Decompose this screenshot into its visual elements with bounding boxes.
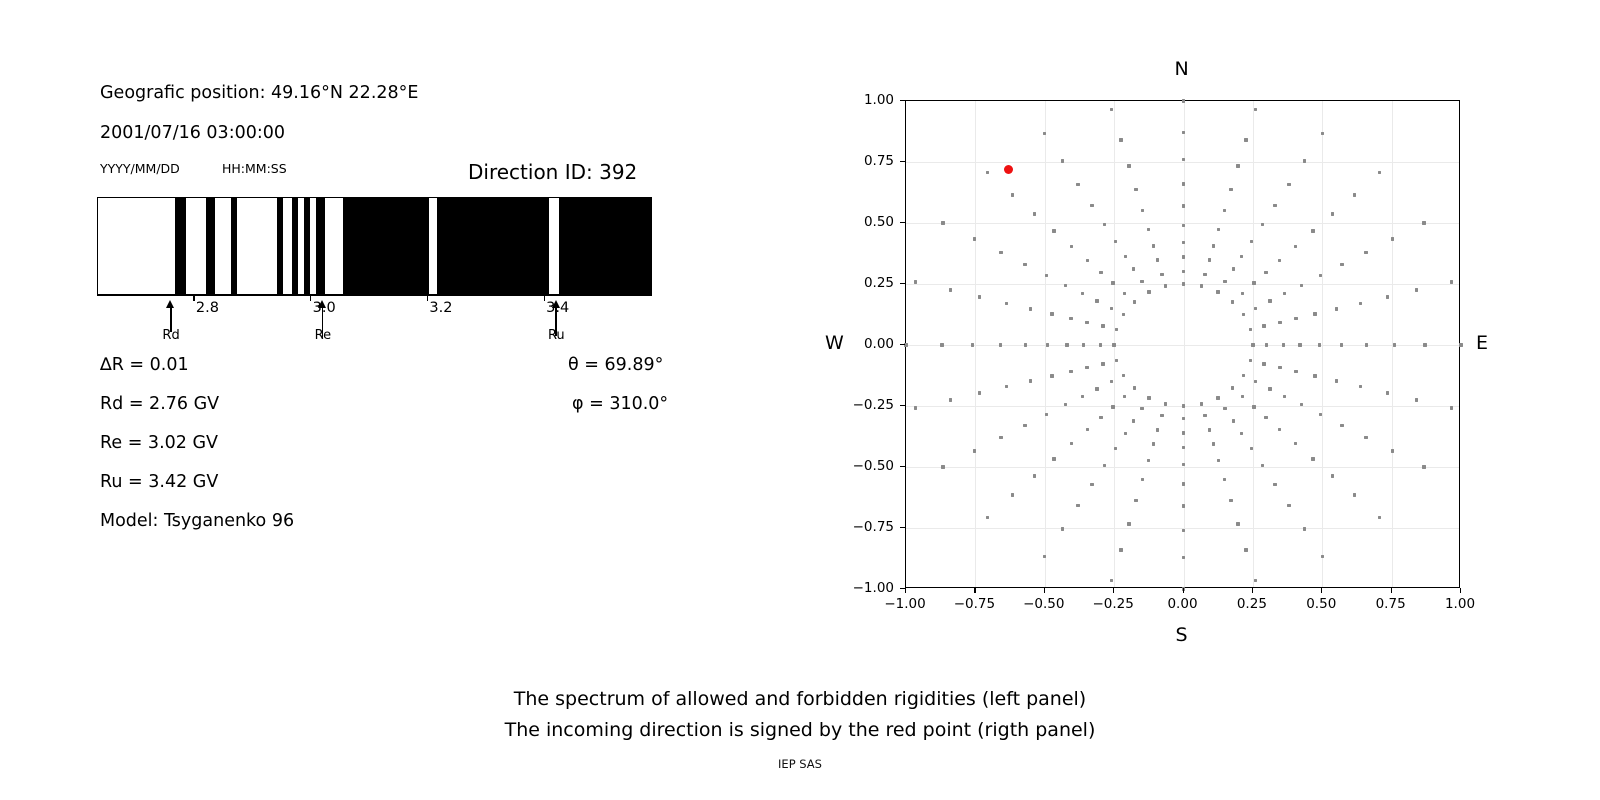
rigidity-spectrum-panel: Geografic position: 49.16°N 22.28°E 2001… [0, 0, 800, 800]
x-tick-mark [1252, 588, 1253, 593]
direction-point [1095, 299, 1098, 302]
grid-line-vertical [1184, 101, 1185, 587]
direction-point [999, 436, 1002, 439]
x-tick-mark [1321, 588, 1322, 593]
direction-point [1283, 395, 1286, 398]
direction-point [1236, 164, 1239, 167]
direction-point [1208, 428, 1211, 431]
direction-point [1223, 280, 1226, 283]
direction-point [1090, 483, 1093, 486]
param-theta: θ = 69.89° [568, 355, 663, 375]
direction-point [1101, 324, 1104, 327]
direction-point [1085, 366, 1088, 369]
y-tick-label: −0.50 [842, 458, 894, 474]
direction-point [1127, 522, 1130, 525]
y-tick-label: 0.25 [842, 275, 894, 291]
direction-point [1115, 328, 1118, 331]
direction-point [1134, 188, 1137, 191]
direction-point [986, 516, 989, 519]
marker-arrow-head-ru [552, 300, 560, 308]
direction-point [1450, 280, 1453, 283]
x-tick-mark [905, 588, 906, 593]
grid-line-horizontal [906, 162, 1459, 163]
y-tick-label: −0.25 [842, 397, 894, 413]
direction-point [1313, 374, 1316, 377]
direction-point [1099, 343, 1102, 346]
direction-point [1160, 273, 1163, 276]
direction-point [1182, 482, 1185, 485]
direction-point [1160, 414, 1163, 417]
direction-point [1103, 223, 1106, 226]
x-tick-label: 1.00 [1445, 596, 1475, 612]
direction-point [1278, 259, 1281, 262]
caption-line-1: The spectrum of allowed and forbidden ri… [0, 688, 1600, 710]
direction-point [1061, 527, 1064, 530]
direction-point [1095, 387, 1098, 390]
direction-point [1261, 223, 1264, 226]
direction-point [1081, 292, 1084, 295]
direction-point [949, 398, 952, 401]
direction-point [1261, 464, 1264, 467]
direction-point [1070, 442, 1073, 445]
footer-credit: IEP SAS [0, 757, 1600, 771]
direction-point [1110, 380, 1113, 383]
direction-point [1182, 99, 1185, 102]
forbidden-band [304, 198, 310, 294]
param-rd: Rd = 2.76 GV [100, 394, 219, 414]
compass-east-label: E [1476, 332, 1488, 354]
x-tick-mark [1183, 588, 1184, 593]
direction-point [1122, 313, 1125, 316]
caption-line-2: The incoming direction is signed by the … [0, 719, 1600, 741]
direction-point [1114, 447, 1117, 450]
direction-point [1110, 579, 1113, 582]
direction-point [1182, 204, 1185, 207]
forbidden-band [292, 198, 298, 294]
param-ru: Ru = 3.42 GV [100, 472, 218, 492]
date-format-hint: YYYY/MM/DD [100, 161, 180, 176]
marker-arrow-label-rd: Rd [162, 328, 179, 343]
direction-point [1450, 406, 1453, 409]
direction-point [1241, 395, 1244, 398]
direction-point [1250, 447, 1253, 450]
direction-point [1182, 241, 1185, 244]
direction-point [1147, 459, 1150, 462]
compass-south-label: S [1176, 624, 1188, 646]
direction-point [1110, 108, 1113, 111]
direction-point [1298, 343, 1301, 346]
incoming-direction-red-point [1004, 165, 1013, 174]
y-tick-mark [900, 161, 905, 162]
direction-point [1319, 274, 1322, 277]
direction-point [1249, 328, 1252, 331]
direction-point [1182, 556, 1185, 559]
direction-point [1393, 343, 1396, 346]
y-tick-label: 0.50 [842, 214, 894, 230]
direction-point [1254, 108, 1257, 111]
direction-point [1359, 302, 1362, 305]
direction-point [1223, 209, 1226, 212]
direction-point [1391, 237, 1394, 240]
direction-point [1082, 343, 1085, 346]
param-re: Re = 3.02 GV [100, 433, 218, 453]
direction-point [1123, 292, 1126, 295]
direction-point [1182, 463, 1185, 466]
x-tick-label: −0.25 [1092, 596, 1133, 612]
x-tick-mark [1460, 588, 1461, 593]
direction-point [1064, 284, 1067, 287]
direction-point [1212, 244, 1215, 247]
direction-point [1200, 284, 1203, 287]
direction-point [1111, 405, 1114, 408]
direction-point [1278, 366, 1281, 369]
time-format-hint: HH:MM:SS [222, 161, 287, 176]
direction-point [1124, 255, 1127, 258]
direction-point [1132, 419, 1135, 422]
x-tick-label: −0.50 [1023, 596, 1064, 612]
direction-point [941, 221, 944, 224]
direction-point [1111, 281, 1114, 284]
direction-point [1200, 402, 1203, 405]
direction-point [1321, 132, 1324, 135]
direction-scatter-plot [905, 100, 1460, 588]
datetime-text: 2001/07/16 03:00:00 [100, 123, 285, 143]
direction-point [1069, 370, 1072, 373]
direction-point [1249, 359, 1252, 362]
direction-point [1141, 209, 1144, 212]
direction-point [1090, 204, 1093, 207]
direction-point [1110, 307, 1113, 310]
direction-point [1415, 398, 1418, 401]
direction-point [1340, 343, 1343, 346]
direction-point [1182, 131, 1185, 134]
direction-point [1262, 324, 1265, 327]
y-tick-mark [900, 100, 905, 101]
geographic-position-text: Geografic position: 49.16°N 22.28°E [100, 83, 418, 103]
direction-point [1182, 224, 1185, 227]
direction-point [1319, 413, 1322, 416]
direction-point [1052, 229, 1055, 232]
direction-point [1024, 343, 1027, 346]
forbidden-band [343, 198, 429, 294]
direction-point [1311, 457, 1314, 460]
direction-point [1231, 300, 1234, 303]
x-tick-label: 0.00 [1167, 596, 1197, 612]
direction-point [1244, 548, 1247, 551]
x-tick-label: −0.75 [954, 596, 995, 612]
direction-point [1122, 374, 1125, 377]
direction-point [1081, 395, 1084, 398]
direction-point [971, 343, 974, 346]
direction-point [986, 171, 989, 174]
y-tick-mark [900, 222, 905, 223]
direction-point [1282, 343, 1285, 346]
direction-point [1182, 404, 1185, 407]
direction-point [1070, 245, 1073, 248]
direction-point [1127, 164, 1130, 167]
direction-point [1254, 380, 1257, 383]
direction-point [1152, 244, 1155, 247]
direction-point [1086, 259, 1089, 262]
direction-point [1046, 343, 1049, 346]
direction-point [1273, 204, 1276, 207]
spectrum-tick-mark [193, 295, 194, 301]
y-tick-mark [900, 527, 905, 528]
grid-line-horizontal [906, 467, 1459, 468]
direction-point [1311, 229, 1314, 232]
direction-point [1303, 527, 1306, 530]
incoming-direction-panel: N S W E −1.00−0.75−0.50−0.250.000.250.50… [800, 0, 1600, 800]
direction-point [1386, 391, 1389, 394]
marker-arrow-label-ru: Ru [548, 328, 565, 343]
direction-point [1182, 417, 1185, 420]
direction-point [1182, 282, 1185, 285]
direction-point [1208, 258, 1211, 261]
direction-point [1340, 263, 1343, 266]
direction-point [1294, 245, 1297, 248]
direction-point [1236, 522, 1239, 525]
direction-point [1147, 228, 1150, 231]
direction-point [1287, 504, 1290, 507]
direction-point [1124, 432, 1127, 435]
direction-point [1283, 292, 1286, 295]
direction-point [999, 251, 1002, 254]
param-delta-r: ∆R = 0.01 [100, 355, 189, 375]
direction-point [1254, 307, 1257, 310]
direction-point [1114, 240, 1117, 243]
direction-point [1378, 516, 1381, 519]
direction-point [1134, 499, 1137, 502]
x-tick-label: −1.00 [884, 596, 925, 612]
grid-line-vertical [1322, 101, 1323, 587]
direction-point [1252, 405, 1255, 408]
direction-point [1254, 579, 1257, 582]
direction-point [1217, 459, 1220, 462]
direction-point [1422, 465, 1425, 468]
direction-point [1364, 436, 1367, 439]
y-tick-label: 0.75 [842, 153, 894, 169]
x-tick-label: 0.75 [1376, 596, 1406, 612]
direction-point [1023, 263, 1026, 266]
direction-point [1101, 362, 1104, 365]
direction-point [1294, 442, 1297, 445]
direction-point [973, 237, 976, 240]
direction-point [1182, 431, 1185, 434]
direction-point [1242, 313, 1245, 316]
direction-point [1250, 240, 1253, 243]
direction-point [1216, 290, 1219, 293]
direction-point [1386, 295, 1389, 298]
y-tick-label: 0.00 [842, 336, 894, 352]
forbidden-band [231, 198, 237, 294]
compass-west-label: W [825, 332, 844, 354]
param-model: Model: Tsyganenko 96 [100, 511, 294, 531]
direction-point [1303, 159, 1306, 162]
forbidden-band [206, 198, 216, 294]
direction-point [1268, 299, 1271, 302]
direction-point [914, 280, 917, 283]
grid-line-vertical [975, 101, 976, 587]
spectrum-tick-label: 3.2 [429, 300, 452, 316]
direction-point [1335, 379, 1338, 382]
y-tick-mark [900, 344, 905, 345]
direction-point [1112, 343, 1115, 346]
spectrum-axis-line [97, 295, 652, 296]
x-tick-label: 0.50 [1306, 596, 1336, 612]
y-tick-mark [900, 466, 905, 467]
direction-point [941, 465, 944, 468]
x-tick-label: 0.25 [1237, 596, 1267, 612]
direction-point [1378, 171, 1381, 174]
direction-point [1182, 529, 1185, 532]
direction-point [1043, 555, 1046, 558]
direction-point [978, 295, 981, 298]
forbidden-band [437, 198, 549, 294]
direction-point [1264, 416, 1267, 419]
direction-point [1353, 193, 1356, 196]
direction-point [1023, 424, 1026, 427]
direction-point [1231, 386, 1234, 389]
direction-point [1313, 312, 1316, 315]
direction-point [1459, 343, 1462, 346]
x-tick-mark [1044, 588, 1045, 593]
direction-point [1164, 284, 1167, 287]
direction-point [1262, 362, 1265, 365]
grid-line-horizontal [906, 345, 1459, 346]
marker-arrow-head-re [318, 300, 326, 308]
direction-point [1147, 396, 1150, 399]
direction-point [1076, 504, 1079, 507]
direction-point [1182, 158, 1185, 161]
direction-point [978, 391, 981, 394]
direction-point [1268, 387, 1271, 390]
direction-point [1043, 132, 1046, 135]
direction-point [1029, 379, 1032, 382]
spectrum-tick-mark [427, 295, 428, 301]
rigidity-spectrum-bar [97, 197, 652, 295]
direction-point [1223, 478, 1226, 481]
forbidden-band [316, 198, 325, 294]
direction-point [1353, 493, 1356, 496]
direction-point [1232, 267, 1235, 270]
direction-point [1141, 478, 1144, 481]
direction-point [1331, 474, 1334, 477]
direction-point [1318, 343, 1321, 346]
y-tick-label: 1.00 [842, 92, 894, 108]
direction-point [1005, 385, 1008, 388]
x-tick-mark [1113, 588, 1114, 593]
direction-point [1045, 413, 1048, 416]
direction-point [1364, 251, 1367, 254]
y-tick-label: −1.00 [842, 580, 894, 596]
direction-point [1005, 302, 1008, 305]
direction-point [1164, 402, 1167, 405]
direction-point [1340, 424, 1343, 427]
direction-point [1132, 267, 1135, 270]
y-tick-mark [900, 405, 905, 406]
direction-point [1278, 321, 1281, 324]
direction-point [1182, 270, 1185, 273]
x-tick-mark [1391, 588, 1392, 593]
direction-point [1156, 428, 1159, 431]
x-tick-mark [974, 588, 975, 593]
marker-arrow-label-re: Re [315, 328, 331, 343]
direction-point [1045, 274, 1048, 277]
direction-point [1251, 343, 1254, 346]
direction-point [1029, 307, 1032, 310]
direction-point [1182, 504, 1185, 507]
direction-point [1182, 255, 1185, 258]
direction-point [1156, 258, 1159, 261]
direction-point [999, 343, 1002, 346]
direction-point [1133, 300, 1136, 303]
direction-point [1065, 343, 1068, 346]
forbidden-band [277, 198, 283, 294]
direction-point [1273, 483, 1276, 486]
direction-point [1033, 474, 1036, 477]
direction-point [1359, 385, 1362, 388]
y-tick-label: −0.75 [842, 519, 894, 535]
direction-point [1119, 138, 1122, 141]
direction-point [1300, 403, 1303, 406]
direction-point [1011, 493, 1014, 496]
direction-point [1252, 281, 1255, 284]
direction-point [1052, 457, 1055, 460]
direction-point [1140, 407, 1143, 410]
direction-point [1086, 428, 1089, 431]
spectrum-tick-label: 2.8 [196, 300, 219, 316]
spectrum-tick-mark [544, 295, 545, 301]
direction-point [1265, 343, 1268, 346]
direction-point [1216, 396, 1219, 399]
direction-point [973, 449, 976, 452]
direction-point [1147, 290, 1150, 293]
direction-point [1244, 138, 1247, 141]
direction-point [1103, 464, 1106, 467]
y-tick-mark [900, 283, 905, 284]
direction-point [1061, 159, 1064, 162]
direction-point [1335, 307, 1338, 310]
direction-point [1264, 271, 1267, 274]
direction-point [1242, 374, 1245, 377]
direction-point [1203, 414, 1206, 417]
direction-point [1278, 428, 1281, 431]
direction-point [1203, 273, 1206, 276]
direction-point [1182, 182, 1185, 185]
direction-point [1391, 449, 1394, 452]
direction-point [1229, 188, 1232, 191]
spectrum-tick-mark [310, 295, 311, 301]
direction-point [1140, 280, 1143, 283]
direction-point [1223, 407, 1226, 410]
direction-point [1069, 317, 1072, 320]
direction-point [1033, 212, 1036, 215]
compass-north-label: N [1175, 58, 1189, 80]
forbidden-band [559, 198, 652, 294]
direction-point [1050, 312, 1053, 315]
direction-point [1115, 359, 1118, 362]
direction-point [1331, 212, 1334, 215]
direction-id-text: Direction ID: 392 [468, 160, 637, 184]
direction-point [940, 343, 943, 346]
direction-point [1300, 284, 1303, 287]
marker-arrow-head-rd [166, 300, 174, 308]
direction-point [1365, 343, 1368, 346]
direction-point [1321, 555, 1324, 558]
direction-point [1232, 419, 1235, 422]
direction-point [1076, 183, 1079, 186]
direction-point [1294, 370, 1297, 373]
